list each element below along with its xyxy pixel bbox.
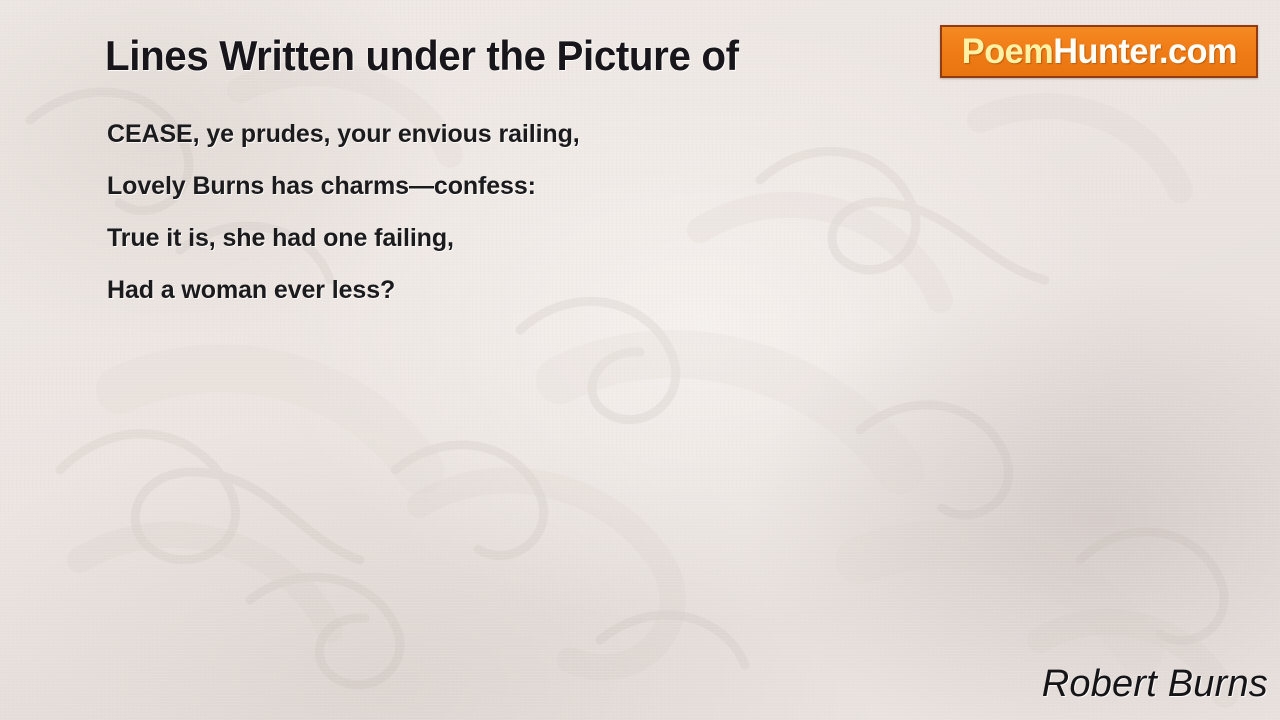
poem-line: True it is, she had one failing,	[107, 212, 1007, 264]
logo-text: PoemHunter.com	[961, 34, 1236, 69]
page-title: Lines Written under the Picture of	[105, 35, 739, 77]
author-name: Robert Burns	[1042, 663, 1268, 706]
poem-card: Lines Written under the Picture of PoemH…	[0, 0, 1280, 720]
poem-body: CEASE, ye prudes, your envious railing, …	[107, 108, 1007, 316]
poem-line: Had a woman ever less?	[107, 264, 1007, 316]
poem-line: Lovely Burns has charms—confess:	[107, 160, 1007, 212]
logo-text-poem: Poem	[961, 32, 1052, 71]
logo-text-hunter: Hunter.com	[1053, 32, 1237, 71]
poemhunter-logo[interactable]: PoemHunter.com	[940, 25, 1258, 78]
poem-line: CEASE, ye prudes, your envious railing,	[107, 108, 1007, 160]
